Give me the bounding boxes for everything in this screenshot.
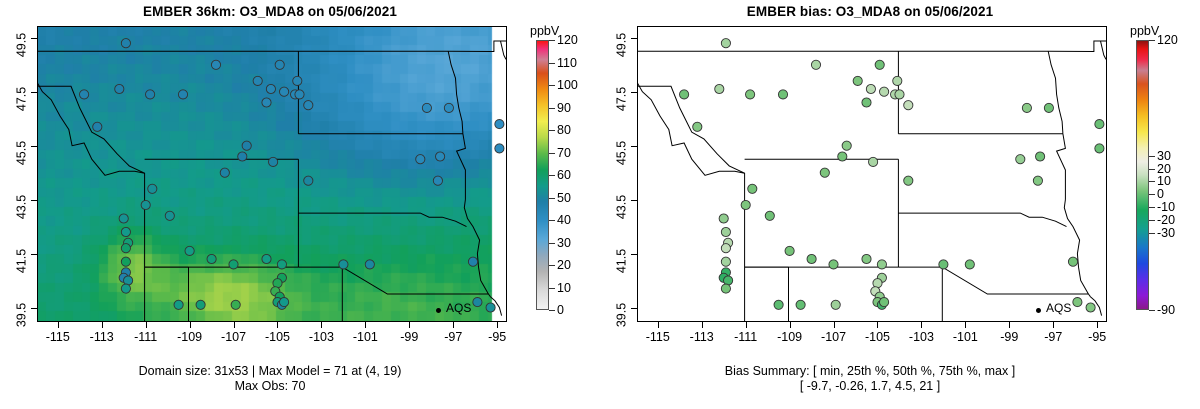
observation-point [831, 300, 840, 309]
observation-point [680, 90, 689, 99]
observation-point [904, 176, 913, 185]
colorbar-tick-label: 100 [557, 78, 578, 92]
colorbar-tick [549, 153, 555, 154]
y-tick [31, 308, 37, 309]
colorbar-tick [549, 40, 555, 41]
panel-bias-y-axis: 39.541.543.545.547.549.5 [600, 26, 637, 322]
observation-point [253, 76, 262, 85]
panel-bias: EMBER bias: O3_MDA8 on 05/06/2021 AQS 39… [600, 0, 1200, 409]
y-tick-label: 39.5 [614, 302, 628, 326]
observation-point [853, 76, 862, 85]
x-tick-label: -97 [1044, 330, 1062, 344]
observation-point [121, 257, 130, 266]
aqs-legend-dot [1036, 308, 1041, 313]
observation-point [877, 260, 886, 269]
bias-map-overlay [638, 27, 1106, 321]
colorbar-tick-label: 120 [1157, 33, 1178, 47]
observation-point [148, 184, 157, 193]
observation-point [495, 144, 504, 153]
observation-point [422, 103, 431, 112]
x-tick [409, 322, 410, 328]
colorbar-unit-label: ppbV [530, 24, 559, 38]
observation-point [304, 176, 313, 185]
observation-point [811, 60, 820, 69]
observation-point [207, 254, 216, 263]
panel-model-title: EMBER 36km: O3_MDA8 on 05/06/2021 [0, 4, 540, 19]
observation-markers [80, 39, 505, 313]
y-tick [631, 92, 637, 93]
observation-point [939, 260, 948, 269]
colorbar-tick [1149, 310, 1155, 311]
observation-point [141, 200, 150, 209]
y-tick [631, 254, 637, 255]
x-tick [234, 322, 235, 328]
x-tick [965, 322, 966, 328]
observation-point [121, 244, 130, 253]
y-tick [631, 146, 637, 147]
observation-point [174, 300, 183, 309]
panel-model: EMBER 36km: O3_MDA8 on 05/06/2021 AQS 39… [0, 0, 600, 409]
colorbar-unit-label: ppbV [1130, 24, 1159, 38]
observation-point [893, 76, 902, 85]
colorbar-tick-label: -90 [1157, 303, 1175, 317]
colorbar-tick [1149, 40, 1155, 41]
observation-point [211, 60, 220, 69]
observation-point [1022, 103, 1031, 112]
observation-point [339, 260, 348, 269]
observation-point [304, 101, 313, 110]
colorbar-tick [549, 63, 555, 64]
x-tick-label: -113 [90, 330, 114, 344]
x-tick [658, 322, 659, 328]
x-tick-label: -109 [177, 330, 202, 344]
observation-point [1086, 303, 1095, 312]
x-tick [1097, 322, 1098, 328]
x-tick [190, 322, 191, 328]
x-tick [146, 322, 147, 328]
observation-point [748, 184, 757, 193]
figure-root: EMBER 36km: O3_MDA8 on 05/06/2021 AQS 39… [0, 0, 1200, 409]
x-tick [746, 322, 747, 328]
observation-point [80, 90, 89, 99]
y-tick-label: 43.5 [14, 194, 28, 218]
colorbar-tick-label: 110 [557, 56, 577, 70]
x-tick-label: -97 [444, 330, 462, 344]
colorbar-tick [549, 220, 555, 221]
observation-point [121, 284, 130, 293]
panel-bias-title: EMBER bias: O3_MDA8 on 05/06/2021 [600, 4, 1140, 19]
colorbar-gradient [1136, 40, 1149, 310]
observation-point [895, 90, 904, 99]
observation-point [741, 200, 750, 209]
observation-markers [680, 39, 1105, 313]
x-tick [1053, 322, 1054, 328]
x-tick-label: -105 [265, 330, 290, 344]
y-tick-label: 49.5 [14, 33, 28, 57]
colorbar-tick [549, 175, 555, 176]
observation-point [862, 98, 871, 107]
observation-point [829, 260, 838, 269]
observation-point [721, 257, 730, 266]
observation-point [238, 152, 247, 161]
colorbar-tick [1149, 181, 1155, 182]
observation-point [220, 168, 229, 177]
x-tick [277, 322, 278, 328]
panel-bias-plot-frame: AQS [637, 26, 1107, 322]
x-tick-label: -99 [400, 330, 418, 344]
observation-point [185, 246, 194, 255]
colorbar-tick-label: -20 [1157, 213, 1175, 227]
x-tick [321, 322, 322, 328]
observation-point [433, 176, 442, 185]
observation-point [765, 211, 774, 220]
observation-point [436, 152, 445, 161]
y-tick [31, 254, 37, 255]
x-tick-label: -99 [1000, 330, 1018, 344]
x-tick-label: -107 [821, 330, 846, 344]
observation-point [693, 122, 702, 131]
y-tick [631, 200, 637, 201]
x-tick-label: -101 [353, 330, 378, 344]
colorbar-tick [549, 243, 555, 244]
x-tick-label: -115 [646, 330, 670, 344]
y-tick [631, 38, 637, 39]
x-tick [702, 322, 703, 328]
colorbar-tick-label: 80 [557, 123, 571, 137]
x-tick [58, 322, 59, 328]
x-tick [834, 322, 835, 328]
observation-point [721, 227, 730, 236]
panel-model-map [38, 27, 506, 321]
colorbar-tick-label: 0 [1157, 187, 1164, 201]
panel-model-caption-line2: Max Obs: 70 [0, 379, 540, 394]
observation-point [842, 141, 851, 150]
colorbar-tick [1149, 220, 1155, 221]
panel-model-caption-line1: Domain size: 31x53 | Max Model = 71 at (… [0, 364, 540, 379]
colorbar-tick-label: 70 [557, 146, 571, 160]
x-tick [102, 322, 103, 328]
panel-bias-caption-line2: [ -9.7, -0.26, 1.7, 4.5, 21 ] [600, 379, 1140, 394]
observation-point [778, 90, 787, 99]
colorbar-tick-label: 60 [557, 168, 571, 182]
observation-point [880, 298, 889, 307]
y-tick-label: 45.5 [614, 141, 628, 165]
observation-point [838, 152, 847, 161]
colorbar-tick-label: 40 [557, 213, 571, 227]
colorbar-tick-label: -10 [1157, 200, 1175, 214]
aqs-legend-label: AQS [446, 301, 471, 315]
x-tick [877, 322, 878, 328]
observation-point [473, 298, 482, 307]
observation-point [796, 300, 805, 309]
y-tick-label: 49.5 [614, 33, 628, 57]
x-tick-label: -101 [953, 330, 978, 344]
x-tick [1009, 322, 1010, 328]
colorbar-tick-label: -30 [1157, 226, 1175, 240]
observation-point [875, 60, 884, 69]
observation-point [869, 157, 878, 166]
observation-point [1033, 176, 1042, 185]
colorbar-tick-label: 50 [557, 191, 571, 205]
observation-point [119, 214, 128, 223]
y-tick [631, 308, 637, 309]
panel-model-x-axis: -115-113-111-109-107-105-103-101-99-97-9… [37, 322, 507, 356]
observation-point [880, 87, 889, 96]
observation-point [721, 284, 730, 293]
observation-point [807, 254, 816, 263]
observation-point [229, 260, 238, 269]
observation-point [121, 39, 130, 48]
panel-model-plot-frame: AQS [37, 26, 507, 322]
colorbar-tick [549, 130, 555, 131]
observation-point [196, 300, 205, 309]
colorbar-tick-label: 30 [557, 236, 571, 250]
panel-bias-x-axis: -115-113-111-109-107-105-103-101-99-97-9… [637, 322, 1107, 356]
x-tick-label: -111 [134, 330, 157, 344]
y-tick [31, 92, 37, 93]
panel-bias-caption-line1: Bias Summary: [ min, 25th %, 50th %, 75t… [600, 364, 1140, 379]
aqs-legend-dot [436, 308, 441, 313]
observation-point [1073, 298, 1082, 307]
colorbar-tick [549, 85, 555, 86]
observation-point [146, 90, 155, 99]
observation-point [365, 260, 374, 269]
x-tick-label: -95 [488, 330, 506, 344]
colorbar-tick-label: 30 [1157, 149, 1171, 163]
colorbar-tick-label: 10 [1157, 174, 1171, 188]
x-tick-label: -113 [690, 330, 714, 344]
y-tick-label: 47.5 [14, 87, 28, 111]
observation-point [495, 120, 504, 129]
observation-point [486, 303, 495, 312]
x-tick-label: -105 [865, 330, 890, 344]
observation-point [266, 84, 275, 93]
colorbar-tick [1149, 207, 1155, 208]
observation-point [293, 76, 302, 85]
observation-point [165, 211, 174, 220]
observation-point [262, 98, 271, 107]
colorbar-tick-label: 20 [557, 258, 571, 272]
observation-point [774, 300, 783, 309]
y-tick-label: 43.5 [614, 194, 628, 218]
observation-point [242, 141, 251, 150]
colorbar-tick-label: 10 [557, 281, 571, 295]
model-map-overlay [38, 27, 506, 321]
observation-point [965, 260, 974, 269]
observation-point [1068, 257, 1077, 266]
observation-point [1016, 155, 1025, 164]
observation-point [275, 60, 284, 69]
observation-point [904, 101, 913, 110]
observation-point [295, 90, 304, 99]
observation-point [820, 168, 829, 177]
observation-point [715, 84, 724, 93]
x-tick [921, 322, 922, 328]
x-tick-label: -95 [1088, 330, 1106, 344]
x-tick [497, 322, 498, 328]
colorbar-tick [549, 310, 555, 311]
observation-point [785, 246, 794, 255]
observation-point [178, 90, 187, 99]
colorbar-tick [1149, 169, 1155, 170]
observation-point [746, 90, 755, 99]
x-tick-label: -109 [777, 330, 802, 344]
y-tick-label: 39.5 [14, 302, 28, 326]
observation-point [121, 227, 130, 236]
observation-point [416, 155, 425, 164]
observation-point [444, 103, 453, 112]
aqs-legend-label: AQS [1046, 301, 1071, 315]
observation-point [280, 298, 289, 307]
observation-point [262, 254, 271, 263]
panel-model-y-axis: 39.541.543.545.547.549.5 [0, 26, 37, 322]
x-tick [365, 322, 366, 328]
y-tick-label: 41.5 [14, 248, 28, 272]
y-tick [31, 38, 37, 39]
observation-point [1044, 103, 1053, 112]
y-tick [31, 146, 37, 147]
observation-point [862, 254, 871, 263]
observation-point [93, 122, 102, 131]
colorbar-tick-label: 120 [557, 33, 578, 47]
colorbar-tick [1149, 233, 1155, 234]
y-tick-label: 41.5 [614, 248, 628, 272]
y-tick-label: 45.5 [14, 141, 28, 165]
x-tick-label: -103 [309, 330, 334, 344]
observation-point [1095, 144, 1104, 153]
colorbar-tick [549, 288, 555, 289]
observation-point [721, 39, 730, 48]
x-tick-label: -107 [221, 330, 246, 344]
observation-point [280, 87, 289, 96]
colorbar-tick-label: 0 [557, 303, 564, 317]
observation-point [719, 214, 728, 223]
observation-point [866, 84, 875, 93]
observation-point [115, 84, 124, 93]
colorbar-tick [1149, 156, 1155, 157]
colorbar-tick-label: 20 [1157, 162, 1171, 176]
colorbar-tick-label: 90 [557, 101, 571, 115]
colorbar-tick [549, 265, 555, 266]
y-tick [31, 200, 37, 201]
y-tick-label: 47.5 [614, 87, 628, 111]
colorbar-gradient [536, 40, 549, 310]
x-tick [790, 322, 791, 328]
colorbar-tick [549, 198, 555, 199]
x-tick [453, 322, 454, 328]
observation-point [231, 300, 240, 309]
colorbar-tick [1149, 194, 1155, 195]
observation-point [269, 157, 278, 166]
observation-point [721, 244, 730, 253]
panel-bias-map [638, 27, 1106, 321]
observation-point [1036, 152, 1045, 161]
x-tick-label: -111 [734, 330, 757, 344]
observation-point [1095, 120, 1104, 129]
observation-point [468, 257, 477, 266]
colorbar-tick [549, 108, 555, 109]
observation-point [277, 260, 286, 269]
x-tick-label: -103 [909, 330, 934, 344]
x-tick-label: -115 [46, 330, 70, 344]
